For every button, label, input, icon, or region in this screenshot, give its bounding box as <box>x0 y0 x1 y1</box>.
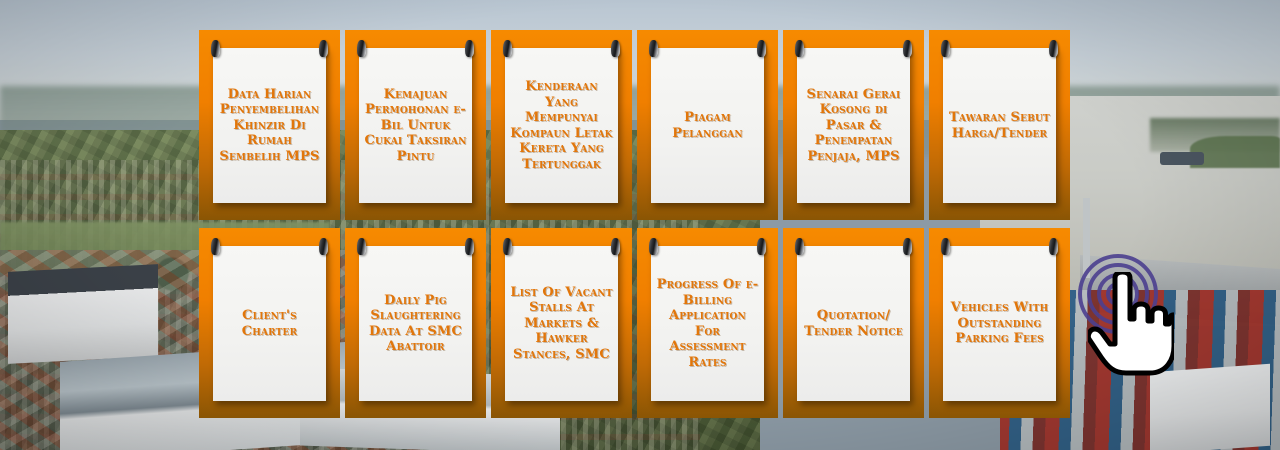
tile-tawaran-sebut-harga-tender[interactable]: Tawaran Sebut Harga/Tender <box>929 30 1070 220</box>
pin-icon <box>795 238 804 255</box>
tile-label: Progress Of e-Billing Application For As… <box>651 277 764 370</box>
tile-senarai-gerai-kosong[interactable]: Senarai Gerai Kosong di Pasar & Penempat… <box>783 30 924 220</box>
pin-icon <box>903 238 912 255</box>
tile-row-bottom: Client's Charter Daily Pig Slaughtering … <box>199 228 1080 418</box>
pin-icon <box>757 40 766 57</box>
pin-icon <box>941 40 950 57</box>
pin-icon <box>941 238 950 255</box>
pin-icon <box>503 238 512 255</box>
tile-label: Client's Charter <box>213 308 326 339</box>
pin-icon <box>649 238 658 255</box>
tile-card: Progress Of e-Billing Application For As… <box>651 246 764 401</box>
tile-piagam-pelanggan[interactable]: Piagam Pelanggan <box>637 30 778 220</box>
pin-icon <box>465 238 474 255</box>
tile-card: Kemajuan Permohonan e-Bil Untuk Cukai Ta… <box>359 48 472 203</box>
pin-icon <box>211 238 220 255</box>
tile-label: Daily Pig Slaughtering Data At SMC Abatt… <box>359 293 472 355</box>
pin-icon <box>503 40 512 57</box>
pin-icon <box>795 40 804 57</box>
pin-icon <box>319 40 328 57</box>
tile-card: List Of Vacant Stalls At Markets & Hawke… <box>505 246 618 401</box>
pin-icon <box>1049 238 1058 255</box>
tile-list-of-vacant-stalls[interactable]: List Of Vacant Stalls At Markets & Hawke… <box>491 228 632 418</box>
tile-label: Data Harian Penyembelihan Khinzir Di Rum… <box>213 87 326 165</box>
tile-label: Quotation/ Tender Notice <box>797 308 910 339</box>
pin-icon <box>757 238 766 255</box>
tile-label: Tawaran Sebut Harga/Tender <box>943 110 1056 141</box>
pin-icon <box>611 40 620 57</box>
tile-quotation-tender-notice[interactable]: Quotation/ Tender Notice <box>783 228 924 418</box>
tile-clients-charter[interactable]: Client's Charter <box>199 228 340 418</box>
tile-kenderaan-kompaun-letak-kereta[interactable]: Kenderaan Yang Mempunyai Kompaun Letak K… <box>491 30 632 220</box>
pin-icon <box>357 238 366 255</box>
pin-icon <box>903 40 912 57</box>
tile-card: Quotation/ Tender Notice <box>797 246 910 401</box>
tile-label: Vehicles With Outstanding Parking Fees <box>943 300 1056 347</box>
tile-label: Senarai Gerai Kosong di Pasar & Penempat… <box>797 87 910 165</box>
tile-label: Kemajuan Permohonan e-Bil Untuk Cukai Ta… <box>359 87 472 165</box>
tile-card: Client's Charter <box>213 246 326 401</box>
page-root: Data Harian Penyembelihan Khinzir Di Rum… <box>0 0 1280 450</box>
tile-card: Kenderaan Yang Mempunyai Kompaun Letak K… <box>505 48 618 203</box>
tile-kemajuan-permohonan-ebil[interactable]: Kemajuan Permohonan e-Bil Untuk Cukai Ta… <box>345 30 486 220</box>
pin-icon <box>319 238 328 255</box>
tile-grid: Data Harian Penyembelihan Khinzir Di Rum… <box>199 30 1080 418</box>
tile-data-harian-penyembelihan[interactable]: Data Harian Penyembelihan Khinzir Di Rum… <box>199 30 340 220</box>
tile-label: Piagam Pelanggan <box>651 110 764 141</box>
tile-progress-ebilling-application[interactable]: Progress Of e-Billing Application For As… <box>637 228 778 418</box>
pin-icon <box>611 238 620 255</box>
pin-icon <box>465 40 474 57</box>
tile-card: Piagam Pelanggan <box>651 48 764 203</box>
tile-card: Tawaran Sebut Harga/Tender <box>943 48 1056 203</box>
tile-card: Vehicles With Outstanding Parking Fees <box>943 246 1056 401</box>
pin-icon <box>649 40 658 57</box>
tile-row-top: Data Harian Penyembelihan Khinzir Di Rum… <box>199 30 1080 220</box>
pin-icon <box>1049 40 1058 57</box>
tile-card: Data Harian Penyembelihan Khinzir Di Rum… <box>213 48 326 203</box>
tile-daily-pig-slaughtering-data[interactable]: Daily Pig Slaughtering Data At SMC Abatt… <box>345 228 486 418</box>
pin-icon <box>357 40 366 57</box>
pin-icon <box>211 40 220 57</box>
tile-card: Senarai Gerai Kosong di Pasar & Penempat… <box>797 48 910 203</box>
tile-card: Daily Pig Slaughtering Data At SMC Abatt… <box>359 246 472 401</box>
tile-label: Kenderaan Yang Mempunyai Kompaun Letak K… <box>505 79 618 172</box>
tile-label: List Of Vacant Stalls At Markets & Hawke… <box>505 285 618 363</box>
tile-vehicles-outstanding-parking-fees[interactable]: Vehicles With Outstanding Parking Fees <box>929 228 1070 418</box>
